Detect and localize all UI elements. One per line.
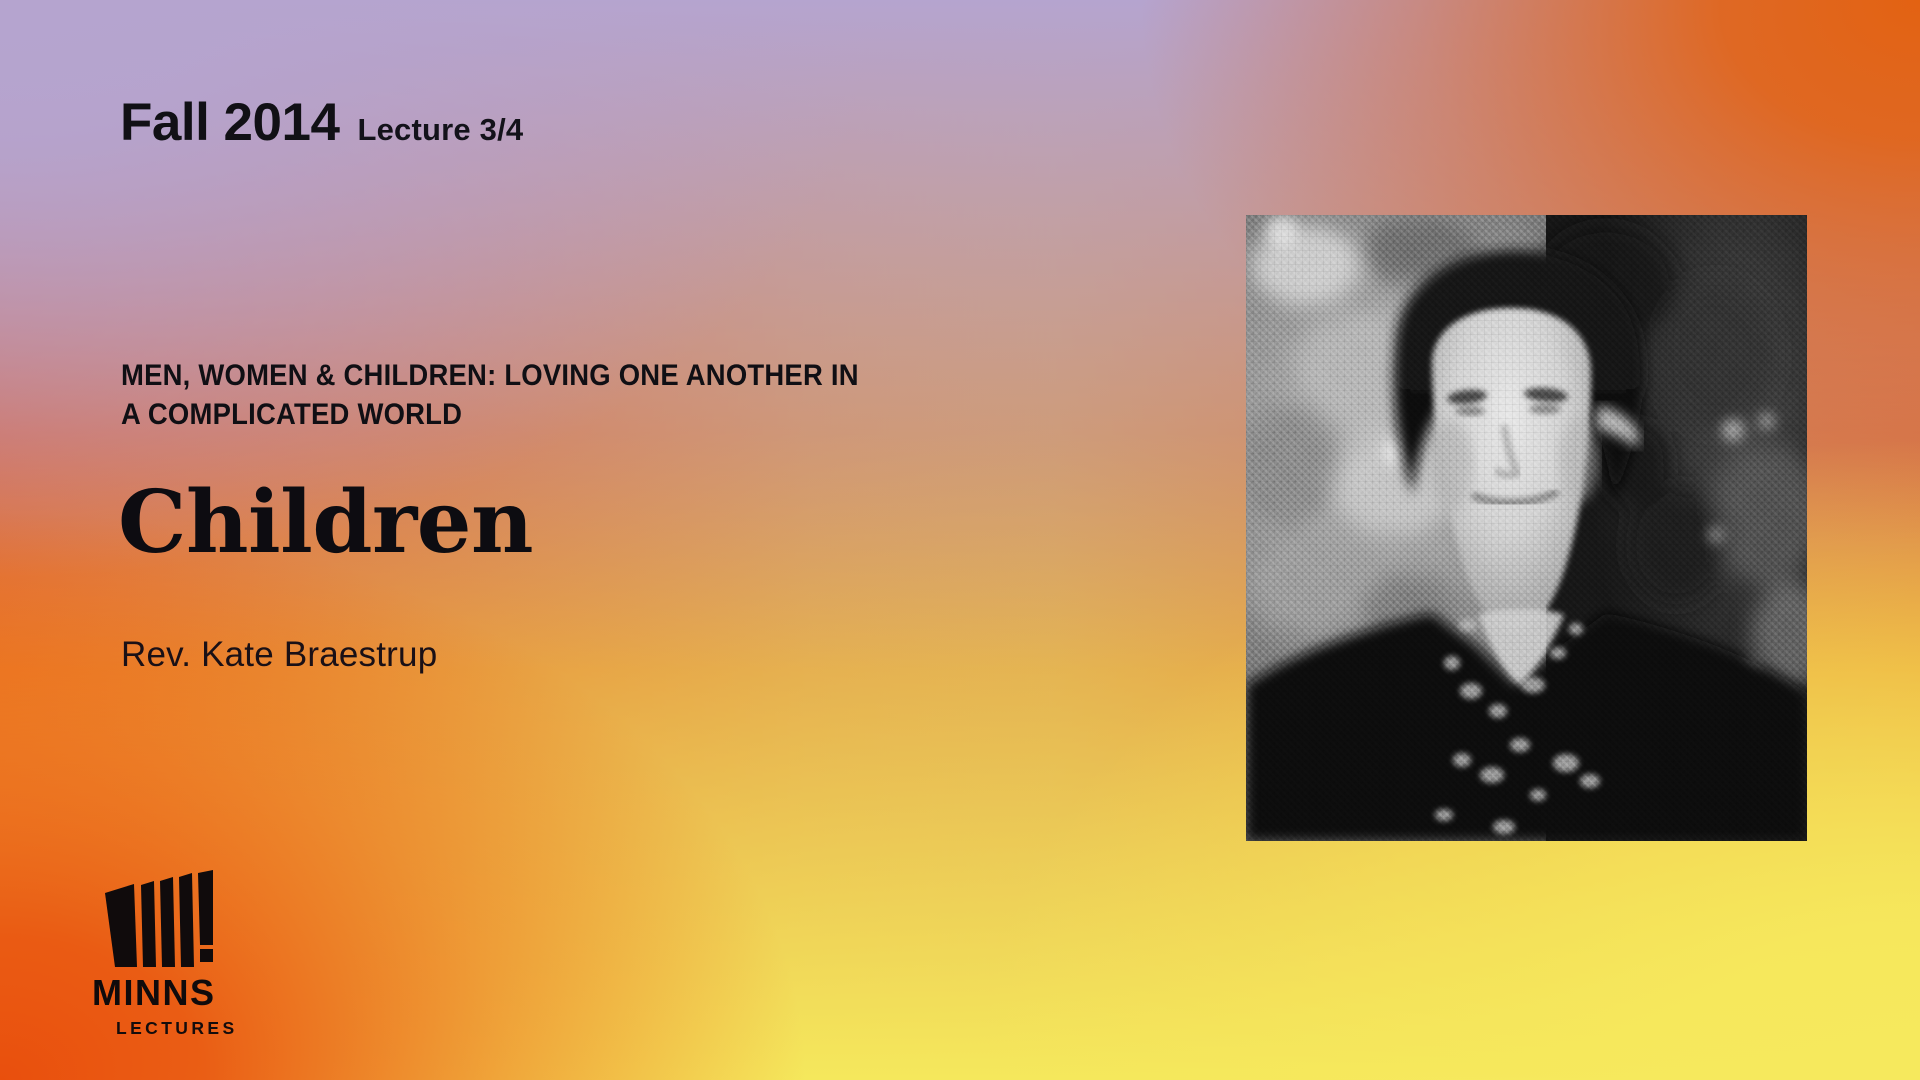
- logo-subtitle: LECTURES: [116, 1020, 252, 1038]
- minns-lectures-logo: MINNS LECTURES: [92, 870, 252, 1038]
- speaker-portrait-photo: [1246, 215, 1807, 841]
- term-label: Fall 2014: [120, 96, 339, 149]
- speaker-name: Rev. Kate Braestrup: [121, 637, 437, 672]
- portrait-image: [1246, 215, 1807, 841]
- minns-pipes-mark-icon: [101, 870, 223, 968]
- talk-title: Children: [118, 480, 533, 566]
- slide-canvas: Fall 2014 Lecture 3/4 MEN, WOMEN & CHILD…: [0, 0, 1920, 1080]
- series-title: MEN, WOMEN & CHILDREN: LOVING ONE ANOTHE…: [121, 357, 884, 434]
- lecture-counter-label: Lecture 3/4: [357, 114, 523, 145]
- eyebrow: Fall 2014 Lecture 3/4: [120, 96, 523, 149]
- logo-wordmark: MINNS: [92, 975, 252, 1011]
